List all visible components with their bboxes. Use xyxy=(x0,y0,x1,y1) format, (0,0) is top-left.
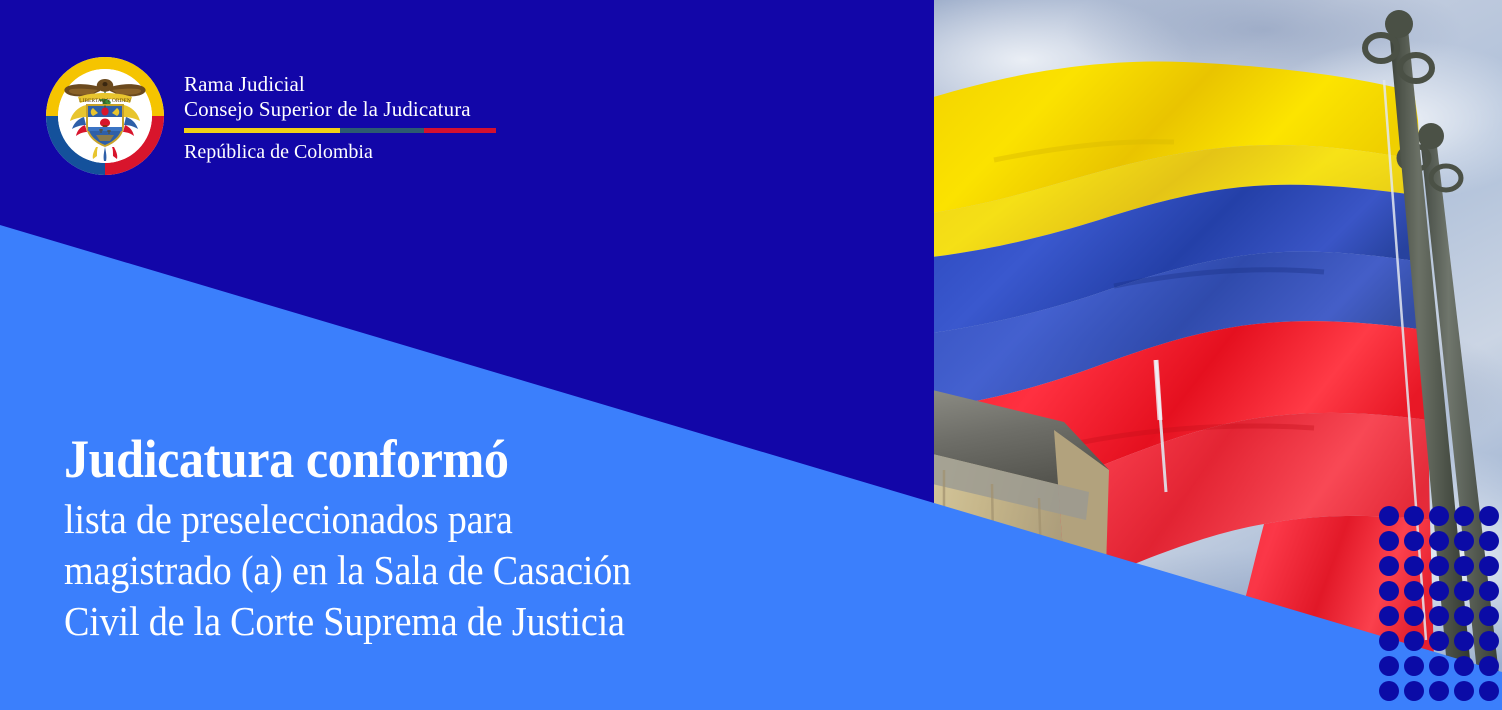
dot xyxy=(1429,606,1449,626)
dot xyxy=(1379,581,1399,601)
dot xyxy=(1429,631,1449,651)
dot xyxy=(1429,656,1449,676)
logo-line-consejo-superior: Consejo Superior de la Judicatura xyxy=(184,97,496,122)
dot xyxy=(1479,606,1499,626)
dot xyxy=(1454,506,1474,526)
dot xyxy=(1404,506,1424,526)
dot xyxy=(1379,681,1399,701)
dot xyxy=(1429,556,1449,576)
dot xyxy=(1479,681,1499,701)
dot xyxy=(1379,531,1399,551)
dot xyxy=(1404,531,1424,551)
headline-subtitle-line-1: lista de preseleccionados para xyxy=(64,494,771,545)
dot xyxy=(1479,656,1499,676)
dot xyxy=(1479,531,1499,551)
dot xyxy=(1479,556,1499,576)
dot xyxy=(1454,556,1474,576)
dot xyxy=(1454,606,1474,626)
headline-title: Judicatura conformó xyxy=(64,430,771,488)
dot xyxy=(1379,631,1399,651)
dot xyxy=(1479,506,1499,526)
news-banner: LIBERTAD Y ORDEN xyxy=(0,0,1502,710)
dot xyxy=(1404,606,1424,626)
dot xyxy=(1379,656,1399,676)
dot xyxy=(1404,556,1424,576)
dot xyxy=(1429,531,1449,551)
decorative-dot-grid xyxy=(1380,504,1502,710)
logo-wordmark: Rama Judicial Consejo Superior de la Jud… xyxy=(184,68,496,164)
dot xyxy=(1479,581,1499,601)
dot xyxy=(1479,631,1499,651)
dot xyxy=(1404,581,1424,601)
dot xyxy=(1379,606,1399,626)
dot xyxy=(1454,681,1474,701)
logo-line-republica-colombia: República de Colombia xyxy=(184,140,496,164)
dot xyxy=(1379,556,1399,576)
dot xyxy=(1404,631,1424,651)
tricolor-red-segment xyxy=(424,128,496,133)
dot xyxy=(1379,506,1399,526)
dot xyxy=(1404,681,1424,701)
colombia-coat-of-arms-icon: LIBERTAD Y ORDEN xyxy=(44,55,166,177)
headline-subtitle-line-3: Civil de la Corte Suprema de Justicia xyxy=(64,596,771,647)
headline-block: Judicatura conformó lista de preseleccio… xyxy=(64,430,824,647)
dot xyxy=(1429,506,1449,526)
tricolor-rule xyxy=(184,128,496,133)
dot xyxy=(1454,656,1474,676)
dot xyxy=(1404,656,1424,676)
dot xyxy=(1454,631,1474,651)
logo-line-rama-judicial: Rama Judicial xyxy=(184,72,496,97)
dot xyxy=(1454,531,1474,551)
svg-text:LIBERTAD Y ORDEN: LIBERTAD Y ORDEN xyxy=(79,98,131,104)
dot xyxy=(1429,681,1449,701)
rama-judicial-logo: LIBERTAD Y ORDEN xyxy=(44,55,496,177)
headline-subtitle-line-2: magistrado (a) en la Sala de Casación xyxy=(64,545,771,596)
dot xyxy=(1429,581,1449,601)
tricolor-blue-segment xyxy=(340,128,424,133)
dot xyxy=(1454,581,1474,601)
tricolor-yellow-segment xyxy=(184,128,340,133)
